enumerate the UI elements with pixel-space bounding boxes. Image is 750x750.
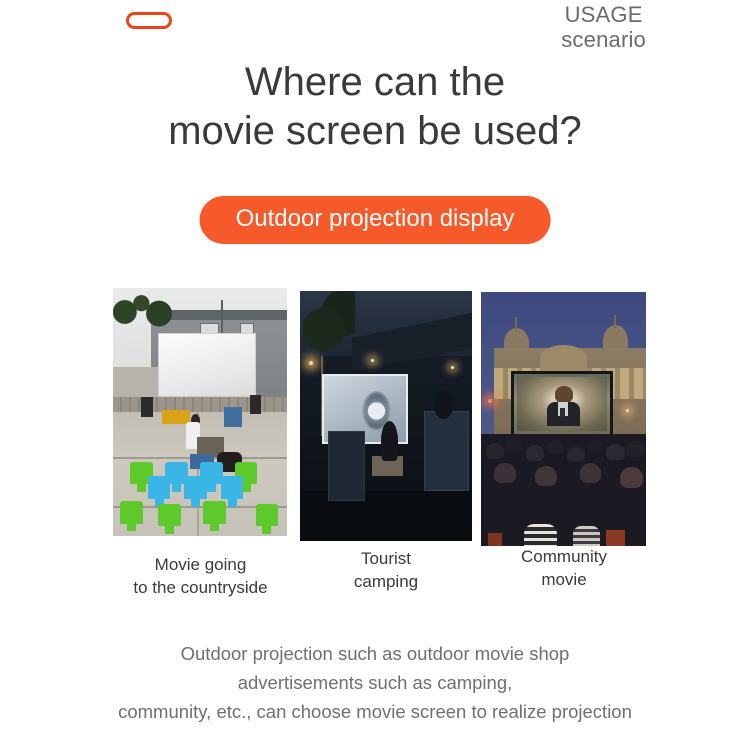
page-title: Where can the movie screen be used?	[0, 58, 750, 156]
description-line-2: advertisements such as camping,	[0, 668, 750, 697]
photo-1-scene	[113, 288, 287, 536]
description-line-1: Outdoor projection such as outdoor movie…	[0, 639, 750, 668]
photo-3-caption-line-2: movie	[478, 568, 650, 591]
photo-1-caption-line-1: Movie going	[104, 553, 297, 576]
pill-outline-icon	[126, 12, 172, 29]
photo-3-scene	[481, 292, 646, 546]
photo-2-caption-line-2: camping	[300, 570, 472, 593]
photo-3-caption-line-1: Community	[478, 545, 650, 568]
night-camping-projection-photo	[300, 291, 472, 541]
photo-1-caption: Movie going to the countryside	[104, 553, 297, 599]
community-square-movie-photo	[481, 292, 646, 546]
photo-2-scene	[300, 291, 472, 541]
description-paragraph: Outdoor projection such as outdoor movie…	[0, 639, 750, 726]
page-title-line-2: movie screen be used?	[0, 107, 750, 156]
eyebrow-line-2: scenario	[561, 27, 646, 52]
eyebrow-label: USAGE scenario	[561, 2, 646, 52]
photo-3-caption: Community movie	[478, 545, 650, 591]
description-line-3: community, etc., can choose movie screen…	[0, 697, 750, 726]
outdoor-projection-display-button[interactable]: Outdoor projection display	[200, 196, 551, 244]
outdoor-courtyard-projection-photo	[113, 288, 287, 536]
photo-2-caption-line-1: Tourist	[300, 547, 472, 570]
photo-2-caption: Tourist camping	[300, 547, 472, 593]
usage-scenario-page: USAGE scenario Where can the movie scree…	[0, 0, 750, 750]
page-title-line-1: Where can the	[0, 58, 750, 107]
photo-1-caption-line-2: to the countryside	[104, 576, 297, 599]
eyebrow-line-1: USAGE	[561, 2, 646, 27]
